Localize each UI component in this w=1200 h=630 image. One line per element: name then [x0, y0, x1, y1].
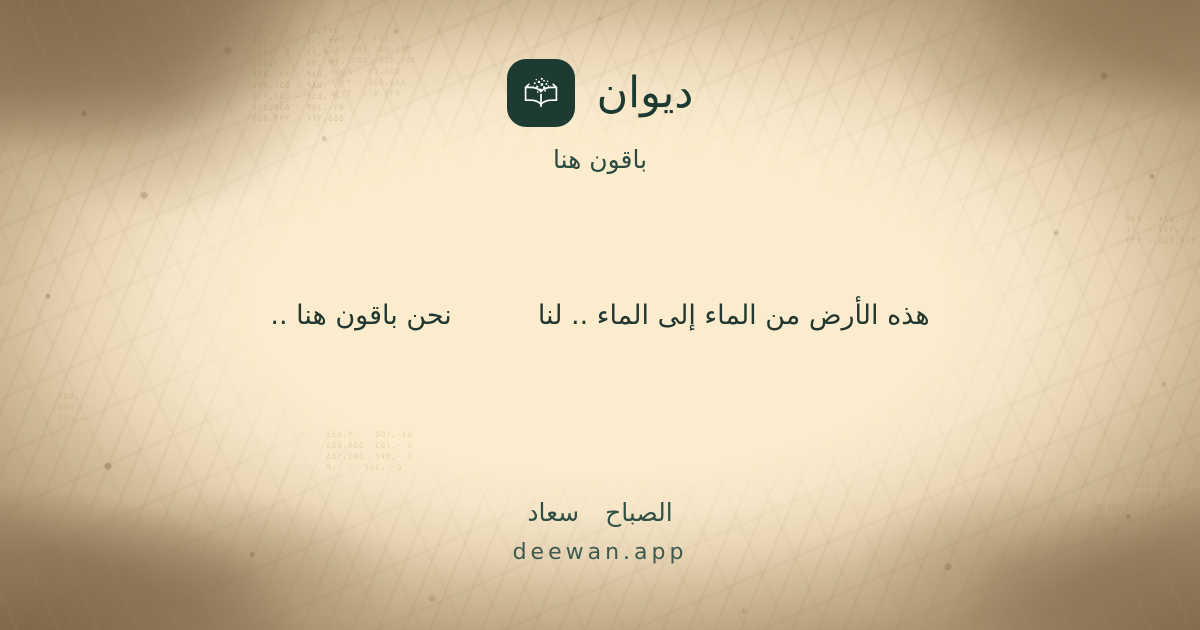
- poem-author: الصباحسعاد: [0, 498, 1200, 527]
- poem-poster-card: ١٢,٣٧٥ - ٤٨٩,٠٠٠ ٤٠,٠٣٣ - ٥٨٤,٠٠٠ ٤٨,٩٠٥…: [0, 0, 1200, 630]
- brand-name: ديوان: [597, 72, 694, 115]
- poem-title: باقون هنا: [553, 145, 647, 174]
- author-first-name: سعاد: [527, 498, 579, 527]
- verse-hemistich-second: هذه الأرض من الماء إلى الماء .. لنا: [538, 300, 930, 331]
- author-last-name: الصباح: [605, 498, 673, 527]
- open-book-sparkles-icon: [507, 59, 575, 127]
- site-url[interactable]: deewan.app: [0, 540, 1200, 565]
- poem-verse: هذه الأرض من الماء إلى الماء .. لنا نحن …: [0, 300, 1200, 331]
- poster-content: ديوان باقون هنا هذه الأرض من الماء إلى ا…: [0, 0, 1200, 630]
- brand-lockup[interactable]: ديوان: [507, 57, 694, 129]
- verse-line: هذه الأرض من الماء إلى الماء .. لنا نحن …: [270, 300, 929, 331]
- verse-hemistich-first: نحن باقون هنا ..: [270, 300, 451, 331]
